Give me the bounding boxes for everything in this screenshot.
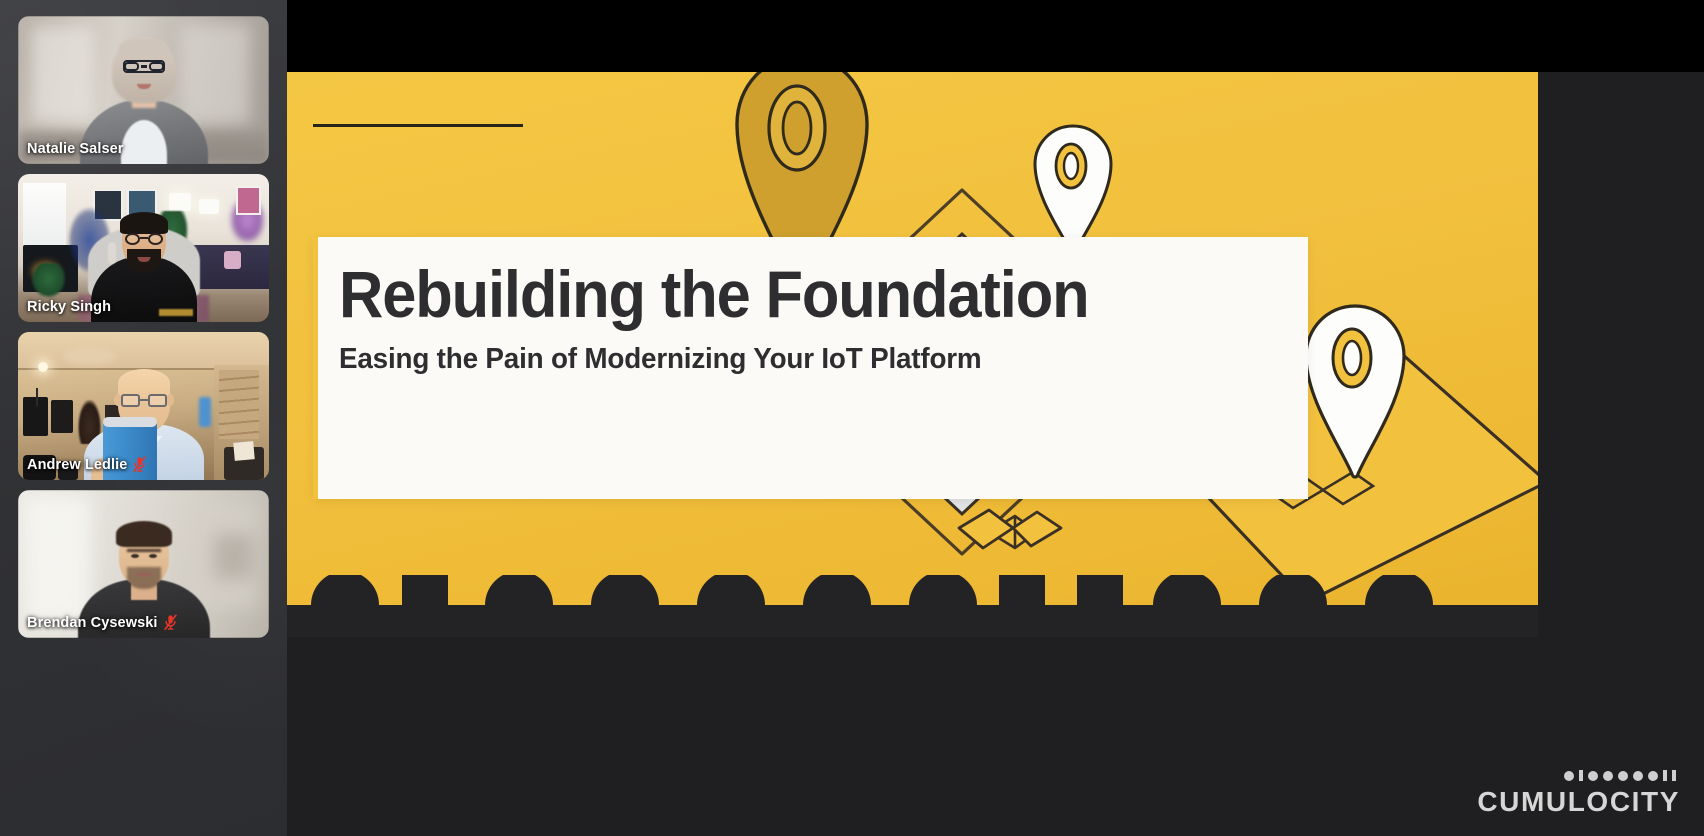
presentation-slide: Rebuilding the Foundation Easing the Pai… [287, 72, 1538, 637]
slide-title-card: Rebuilding the Foundation Easing the Pai… [313, 237, 1308, 499]
share-letterbox-right [1538, 72, 1704, 637]
logo-dot-pattern [1564, 770, 1676, 781]
card-accent-bar [313, 237, 318, 499]
participant-name: Ricky Singh [27, 299, 111, 315]
participant-name-badge: Natalie Salser [27, 141, 124, 157]
participant-name: Natalie Salser [27, 141, 124, 157]
participant-tile-natalie-salser[interactable]: Natalie Salser [18, 16, 269, 164]
video-conference-window: Natalie Salser Ricky Singh [0, 0, 1704, 836]
shared-screen-stage: Rebuilding the Foundation Easing the Pai… [287, 0, 1704, 836]
slide-title: Rebuilding the Foundation [339, 261, 1088, 327]
dot-bar-pattern-strip [287, 575, 1538, 637]
participant-tile-ricky-singh[interactable]: Ricky Singh [18, 174, 269, 322]
share-letterbox-top [287, 0, 1704, 72]
participant-name: Andrew Ledlie [27, 457, 127, 473]
participant-name-badge: Brendan Cysewski [27, 614, 178, 631]
map-pin-white-large-icon [1300, 302, 1410, 492]
logo-wordmark: CUMULOCITY [1477, 786, 1680, 818]
participant-tile-brendan-cysewski[interactable]: Brendan Cysewski [18, 490, 269, 638]
participant-name-badge: Andrew Ledlie [27, 456, 147, 473]
mic-muted-icon [132, 456, 147, 473]
participant-tile-andrew-ledlie[interactable]: Andrew Ledlie [18, 332, 269, 480]
mic-muted-icon [163, 614, 178, 631]
participant-name-badge: Ricky Singh [27, 299, 111, 315]
cumulocity-logo: CUMULOCITY [1477, 770, 1680, 818]
participant-filmstrip[interactable]: Natalie Salser Ricky Singh [0, 0, 287, 836]
slide-horizontal-rule [313, 124, 523, 127]
slide-subtitle: Easing the Pain of Modernizing Your IoT … [339, 343, 981, 376]
participant-name: Brendan Cysewski [27, 615, 158, 631]
